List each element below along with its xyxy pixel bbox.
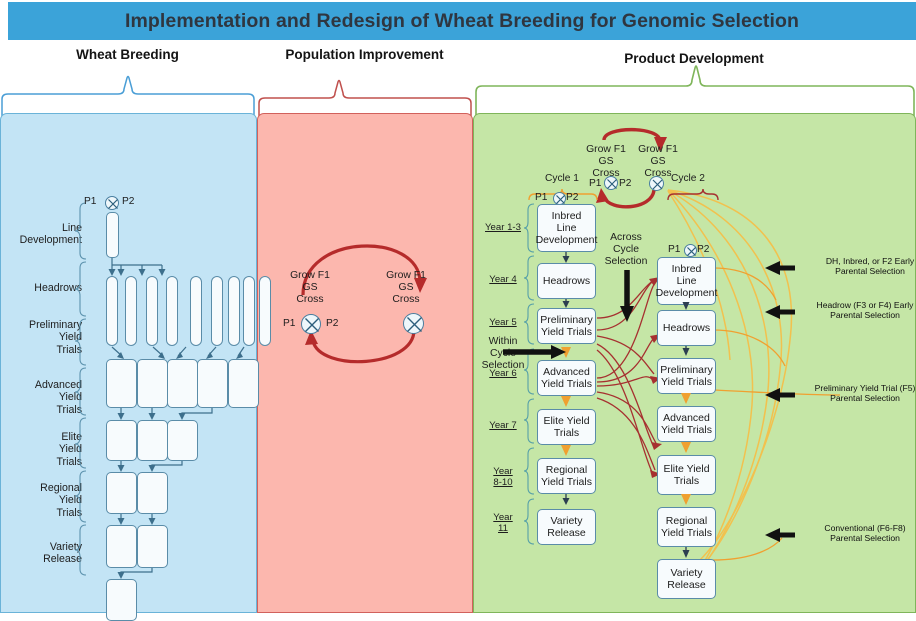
cross-label-p2-left: P2 — [122, 196, 134, 207]
cycle-1-label: Cycle 1 — [545, 173, 579, 184]
box-variety-release — [106, 579, 137, 621]
stage-label-headrows: Headrows — [6, 282, 82, 294]
cross-icon-left — [105, 196, 119, 210]
stage-label-preliminary-yield-trials: PreliminaryYieldTrials — [6, 319, 82, 356]
cycle2-box-variety-release: VarietyRelease — [657, 559, 716, 599]
pop-cross-icon-right — [403, 313, 424, 334]
cycle1-box-regional-yield-trials: RegionalYield Trials — [537, 458, 596, 494]
stage-label-line-development: LineDevelopment — [6, 222, 82, 247]
box-advanced-yield-trial — [106, 420, 137, 461]
box-headrow — [146, 276, 158, 346]
cycle2-box-advanced-yield-trials: AdvancedYield Trials — [657, 406, 716, 442]
cycle2-box-regional-yield-trials: RegionalYield Trials — [657, 507, 716, 547]
box-headrow — [125, 276, 137, 346]
pd-cycle-left-label: Grow F1 GS Cross — [578, 144, 634, 180]
cycle2-cross-icon — [684, 244, 697, 257]
box-headrow — [190, 276, 202, 346]
annotation-dh-inbred-f2: DH, Inbred, or F2 EarlyParental Selectio… — [800, 256, 916, 277]
year-label-3: Year 5 — [480, 317, 526, 328]
pd-top-cross-icon-left — [604, 176, 618, 190]
pop-cycle-right-label: Grow F1 GS Cross — [368, 270, 444, 306]
annotation-preliminary-yield-trial-f5: Preliminary Yield Trial (F5)Parental Sel… — [795, 383, 916, 404]
page-title: Implementation and Redesign of Wheat Bre… — [125, 10, 799, 33]
diagram-canvas: Implementation and Redesign of Wheat Bre… — [0, 0, 916, 619]
cycle2-cross-label-p2: P2 — [697, 244, 709, 255]
stage-label-advanced-yield-trials: AdvancedYieldTrials — [6, 379, 82, 416]
annotation-headrow-f3-f4: Headrow (F3 or F4) EarlyParental Selecti… — [795, 300, 916, 321]
year-label-1: Year 1-3 — [480, 222, 526, 233]
cycle2-box-inbred-line-development: InbredLineDevelopment — [657, 257, 716, 305]
box-preliminary-yield-trial — [137, 359, 168, 408]
pop-cross-label-p1: P1 — [283, 318, 295, 329]
box-headrow — [259, 276, 271, 346]
box-preliminary-yield-trial — [197, 359, 228, 408]
cycle1-box-inbred-line-development: InbredLineDevelopment — [537, 204, 596, 252]
box-advanced-yield-trial — [137, 420, 168, 461]
cycle2-cross-label-p1: P1 — [668, 244, 680, 255]
panel-population-improvement — [257, 113, 473, 613]
cycle1-box-elite-yield-trials: Elite YieldTrials — [537, 409, 596, 445]
stage-label-regional-yield-trials: RegionalYieldTrials — [6, 482, 82, 519]
box-preliminary-yield-trial — [167, 359, 198, 408]
stage-label-elite-yield-trials: EliteYieldTrials — [6, 431, 82, 468]
box-headrow — [243, 276, 255, 346]
box-regional-yield-trial — [106, 525, 137, 568]
year-label-5: Year 7 — [480, 420, 526, 431]
cycle1-box-advanced-yield-trials: AdvancedYield Trials — [537, 360, 596, 396]
year-label-2: Year 4 — [480, 274, 526, 285]
pd-top-cross-icon-right — [649, 176, 664, 191]
cycle1-box-variety-release: VarietyRelease — [537, 509, 596, 545]
box-preliminary-yield-trial — [106, 359, 137, 408]
pop-cross-icon-left — [301, 314, 321, 334]
pop-cross-label-p2: P2 — [326, 318, 338, 329]
cycle2-box-elite-yield-trials: Elite YieldTrials — [657, 455, 716, 495]
section-header-population-improvement: Population Improvement — [262, 47, 467, 62]
cycle1-box-headrows: Headrows — [537, 263, 596, 299]
cycle2-box-headrows: Headrows — [657, 310, 716, 346]
annotation-conventional-f6-f8: Conventional (F6-F8)Parental Selection — [795, 523, 916, 544]
across-cycle-selection-label: Across Cycle Selection — [598, 232, 654, 268]
box-headrow — [106, 276, 118, 346]
box-regional-yield-trial — [137, 525, 168, 568]
pd-top-cross-label-p1: P1 — [589, 178, 601, 189]
box-elite-yield-trial — [106, 472, 137, 514]
box-preliminary-yield-trial — [228, 359, 259, 408]
box-advanced-yield-trial — [167, 420, 198, 461]
cycle2-box-preliminary-yield-trials: PreliminaryYield Trials — [657, 358, 716, 394]
stage-label-variety-release: VarietyRelease — [6, 541, 82, 566]
cycle1-box-preliminary-yield-trials: PreliminaryYield Trials — [537, 308, 596, 344]
title-bar: Implementation and Redesign of Wheat Bre… — [8, 2, 916, 40]
cross-label-p1-left: P1 — [84, 196, 96, 207]
box-elite-yield-trial — [137, 472, 168, 514]
cycle-2-label: Cycle 2 — [671, 173, 705, 184]
within-cycle-selection-label: Within Cycle Selection — [474, 336, 532, 372]
section-header-product-development: Product Development — [578, 51, 810, 66]
box-headrow — [211, 276, 223, 346]
box-headrow — [166, 276, 178, 346]
pop-cycle-left-label: Grow F1 GS Cross — [272, 270, 348, 306]
box-line-development — [106, 212, 119, 258]
cycle1-cross-label-p1: P1 — [535, 192, 547, 203]
cycle1-cross-label-p2: P2 — [566, 192, 578, 203]
year-label-7: Year11 — [480, 512, 526, 534]
year-label-6: Year8-10 — [480, 466, 526, 488]
section-header-wheat-breeding: Wheat Breeding — [40, 47, 215, 62]
pd-top-cross-label-p2: P2 — [619, 178, 631, 189]
box-headrow — [228, 276, 240, 346]
